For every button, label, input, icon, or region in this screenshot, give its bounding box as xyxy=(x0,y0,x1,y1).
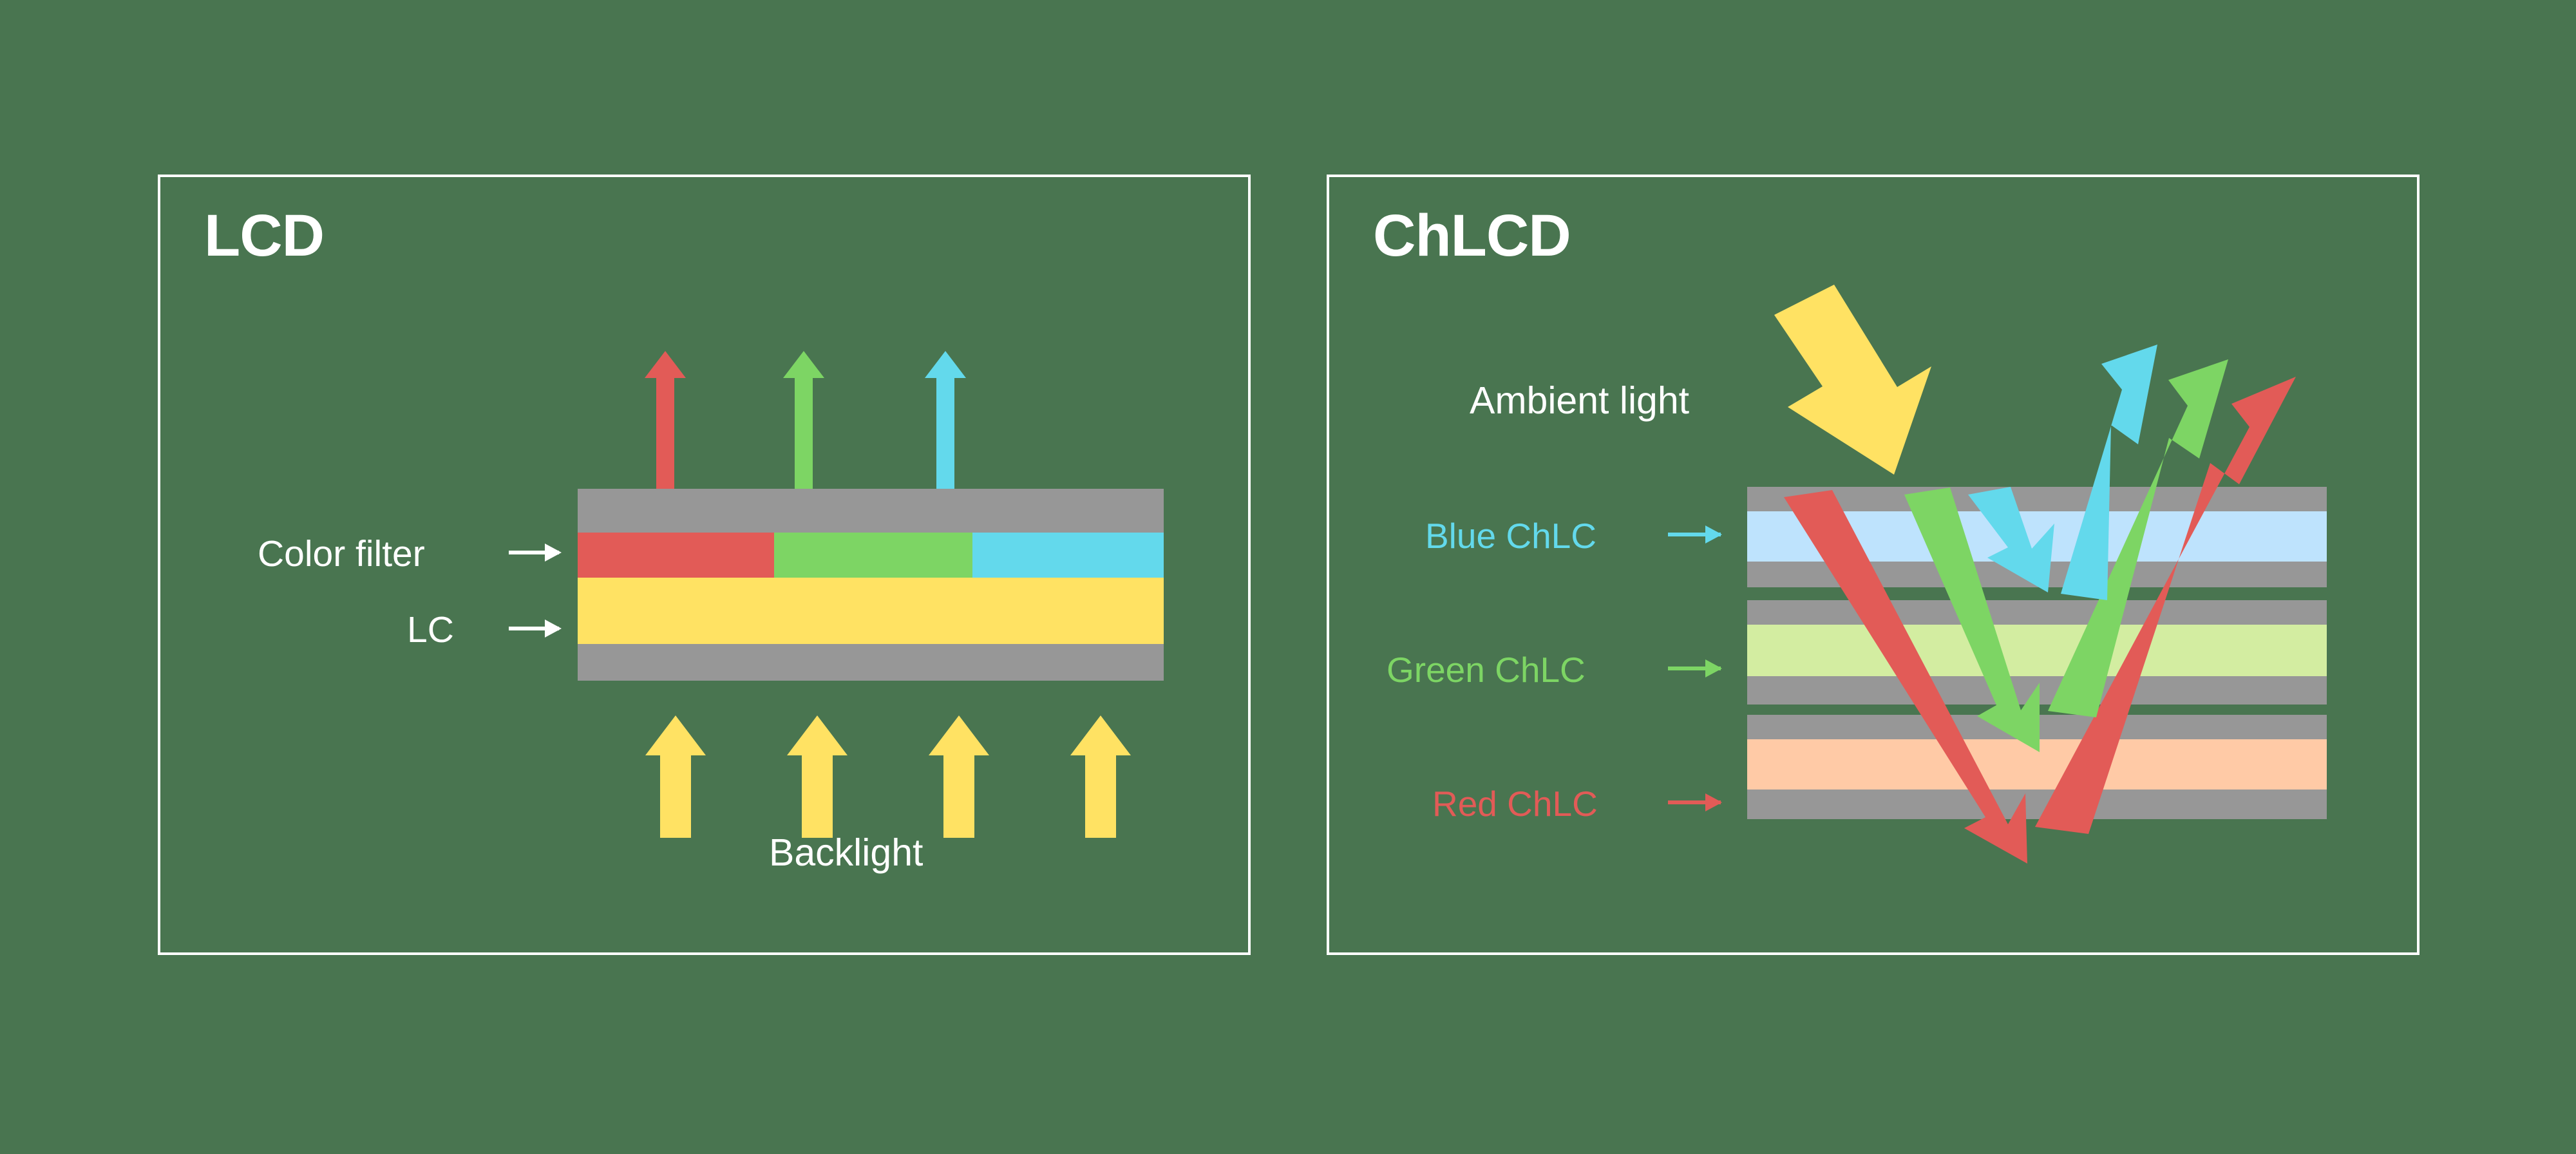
green-cell-top-glass xyxy=(1747,600,2327,625)
chlcd-panel-title: ChLCD xyxy=(1373,206,1571,265)
green-chlc-callout-arrow-icon xyxy=(1668,667,1721,670)
lc-label: LC xyxy=(407,612,454,648)
lcd-top-glass-layer xyxy=(578,489,1164,533)
red-chlc-label: Red ChLC xyxy=(1432,786,1598,822)
lcd-panel-title: LCD xyxy=(204,206,324,265)
red-cell-top-glass xyxy=(1747,715,2327,739)
backlight-label: Backlight xyxy=(769,834,923,872)
green-chlc-label: Green ChLC xyxy=(1387,652,1586,688)
blue-emitted-light-arrow-icon xyxy=(925,351,966,489)
color-filter-green-subpixel xyxy=(774,533,972,578)
lcd-bottom-glass-layer xyxy=(578,644,1164,681)
color-filter-blue-subpixel xyxy=(972,533,1164,578)
blue-cell-top-glass xyxy=(1747,487,2327,511)
green-emitted-light-arrow-icon xyxy=(783,351,824,489)
red-emitted-light-arrow-icon xyxy=(645,351,686,489)
blue-chlc-layer xyxy=(1747,511,2327,562)
blue-chlc-label: Blue ChLC xyxy=(1425,518,1596,554)
lcd-liquid-crystal-layer xyxy=(578,578,1164,644)
blue-cell-bottom-glass xyxy=(1747,562,2327,587)
blue-chlc-callout-arrow-icon xyxy=(1668,533,1721,536)
ambient-light-label: Ambient light xyxy=(1470,382,1689,420)
lc-callout-arrow-icon xyxy=(509,627,559,630)
lcd-color-filter-layer xyxy=(578,533,1164,578)
red-cell-bottom-glass xyxy=(1747,790,2327,819)
blue-chlc-cell xyxy=(1747,487,2327,587)
red-chlc-callout-arrow-icon xyxy=(1668,800,1721,804)
backlight-arrow-icon xyxy=(645,715,706,838)
diagram-canvas: LCD Color filter LC Backlight ChLCD xyxy=(0,0,2576,1154)
green-chlc-layer xyxy=(1747,625,2327,676)
color-filter-callout-arrow-icon xyxy=(509,551,559,554)
green-chlc-cell xyxy=(1747,600,2327,705)
backlight-arrow-icon xyxy=(1070,715,1131,838)
color-filter-red-subpixel xyxy=(578,533,774,578)
color-filter-label: Color filter xyxy=(258,536,425,572)
red-chlc-cell xyxy=(1747,715,2327,819)
backlight-arrow-icon xyxy=(929,715,989,838)
green-cell-bottom-glass xyxy=(1747,676,2327,705)
red-chlc-layer xyxy=(1747,739,2327,790)
backlight-arrow-icon xyxy=(787,715,848,838)
